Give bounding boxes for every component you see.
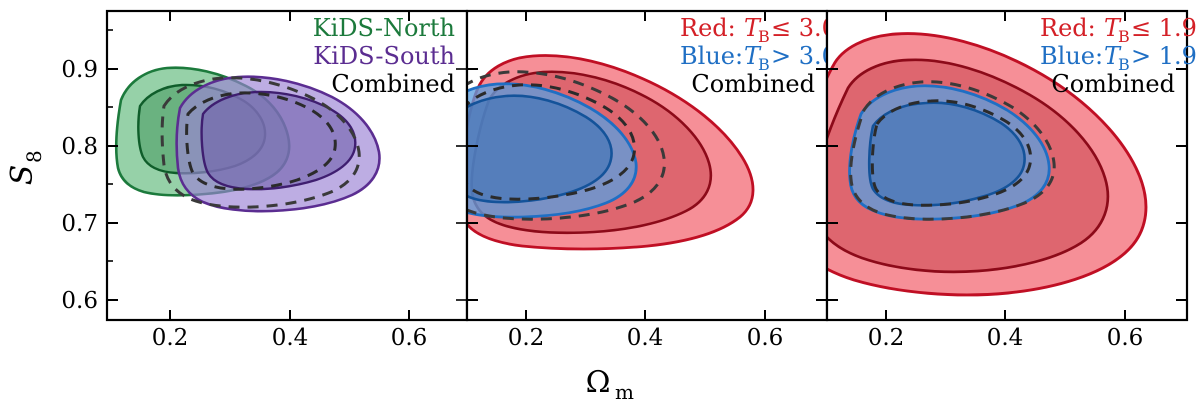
legend-blue-relation-p3: > 1.9 xyxy=(1131,42,1197,70)
ytick-label-0: 0.9 xyxy=(61,57,98,83)
x-axis-title: Ω m xyxy=(586,365,634,402)
legend-item-kids-north: KiDS-North xyxy=(313,14,455,42)
legend-blue-label: Blue: xyxy=(680,42,743,70)
panel-3-xtick-label-0: 0.2 xyxy=(868,325,905,351)
panel-1: 0.2 0.4 0.6 0.9 0.8 0.7 0.6 KiDS-North K… xyxy=(61,11,467,351)
panel-1-xtick-label-2: 0.6 xyxy=(391,325,428,351)
legend-red-relation-p3: ≤ 1.9 xyxy=(1131,14,1197,42)
ytick-label-2: 0.7 xyxy=(61,211,98,237)
contour-figure: 0.2 0.4 0.6 0.9 0.8 0.7 0.6 KiDS-North K… xyxy=(0,0,1200,402)
panel-3-xtick-label-2: 0.6 xyxy=(1107,325,1144,351)
y-axis-title-main: S xyxy=(5,165,40,186)
panel-2-xtick-label-2: 0.6 xyxy=(747,325,784,351)
panel-2: 0.2 0.4 0.6 Red: T B ≤ 3.0 Blue: T B > 3… xyxy=(429,11,836,351)
legend-red-label-p3: Red: xyxy=(1040,14,1096,42)
panel-1-legend: KiDS-North KiDS-South Combined xyxy=(313,14,455,98)
panel-3-legend: Red: T B ≤ 1.9 Blue: T B > 1.9 Combined xyxy=(1040,14,1197,98)
y-axis-title-sub: 8 xyxy=(22,150,46,163)
legend-blue-label-p3: Blue: xyxy=(1040,42,1103,70)
panel-3: 0.2 0.4 0.6 Red: T B ≤ 1.9 Blue: T B > 1… xyxy=(784,11,1197,351)
legend-item-kids-south: KiDS-South xyxy=(313,42,455,70)
panel-2-xtick-label-1: 0.4 xyxy=(627,325,664,351)
legend-item-combined-p2: Combined xyxy=(691,70,815,98)
legend-item-combined: Combined xyxy=(331,70,455,98)
panel-2-legend: Red: T B ≤ 3.0 Blue: T B > 3.0 Combined xyxy=(680,14,837,98)
y-axis-title: S 8 xyxy=(5,150,46,185)
legend-red-label: Red: xyxy=(680,14,736,42)
panel-2-xtick-label-0: 0.2 xyxy=(508,325,545,351)
ytick-label-3: 0.6 xyxy=(61,288,98,314)
legend-item-combined-p3: Combined xyxy=(1051,70,1175,98)
figure-root: 0.2 0.4 0.6 0.9 0.8 0.7 0.6 KiDS-North K… xyxy=(0,0,1200,402)
x-axis-title-sub: m xyxy=(615,380,634,402)
x-axis-title-main: Ω xyxy=(586,365,611,400)
panel-3-xtick-label-1: 0.4 xyxy=(987,325,1024,351)
panel-1-xtick-label-1: 0.4 xyxy=(272,325,309,351)
panel-1-xtick-label-0: 0.2 xyxy=(152,325,189,351)
ytick-label-1: 0.8 xyxy=(61,134,98,160)
